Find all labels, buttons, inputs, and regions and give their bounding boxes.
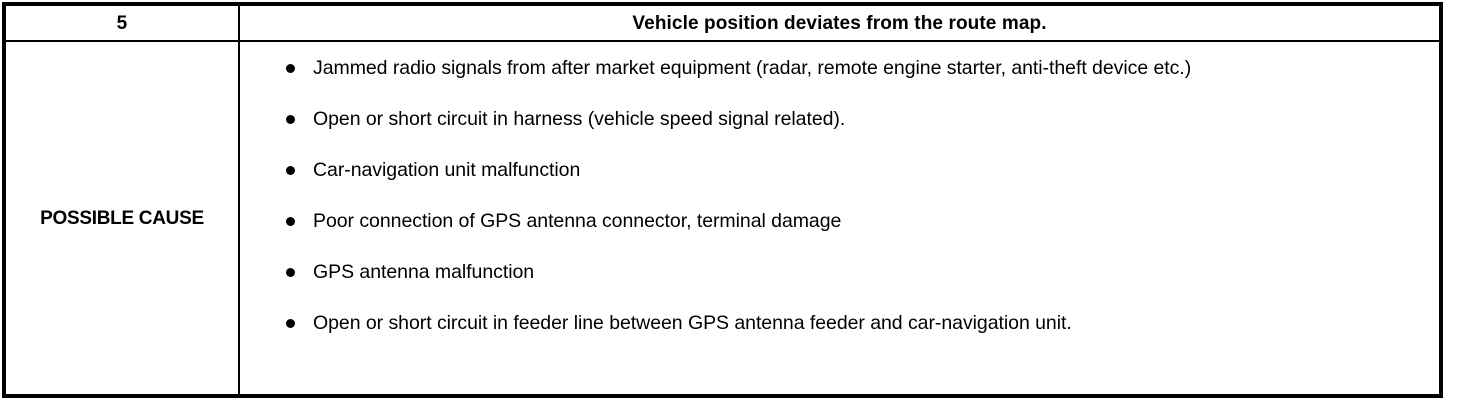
possible-cause-list: Jammed radio signals from after market e… bbox=[286, 56, 1429, 337]
bullet-dot-icon bbox=[286, 319, 295, 328]
bullet-dot-icon bbox=[286, 217, 295, 226]
list-item: Poor connection of GPS antenna connector… bbox=[286, 209, 1429, 235]
cause-text: Poor connection of GPS antenna connector… bbox=[313, 209, 1429, 235]
fault-diagnosis-table: 5 Vehicle position deviates from the rou… bbox=[2, 2, 1443, 398]
table-body-row: POSSIBLE CAUSE Jammed radio signals from… bbox=[6, 42, 1439, 394]
list-item: Car-navigation unit malfunction bbox=[286, 158, 1429, 184]
list-item: Jammed radio signals from after market e… bbox=[286, 56, 1429, 82]
bullet-dot-icon bbox=[286, 268, 295, 277]
list-item: Open or short circuit in feeder line bet… bbox=[286, 311, 1429, 337]
bullet-dot-icon bbox=[286, 166, 295, 175]
possible-cause-label: POSSIBLE CAUSE bbox=[40, 209, 204, 228]
cause-text: Car-navigation unit malfunction bbox=[313, 158, 1429, 184]
table-header-row: 5 Vehicle position deviates from the rou… bbox=[6, 6, 1439, 42]
fault-number-cell: 5 bbox=[6, 6, 240, 40]
possible-cause-label-cell: POSSIBLE CAUSE bbox=[6, 42, 240, 394]
bullet-dot-icon bbox=[286, 115, 295, 124]
fault-number-value: 5 bbox=[117, 14, 128, 33]
page-root: 5 Vehicle position deviates from the rou… bbox=[0, 0, 1472, 402]
cause-text: Jammed radio signals from after market e… bbox=[313, 56, 1429, 82]
cause-text: Open or short circuit in harness (vehicl… bbox=[313, 107, 1429, 133]
cause-text: Open or short circuit in feeder line bet… bbox=[313, 311, 1429, 337]
fault-title-cell: Vehicle position deviates from the route… bbox=[240, 6, 1439, 40]
bullet-dot-icon bbox=[286, 64, 295, 73]
possible-cause-content-cell: Jammed radio signals from after market e… bbox=[240, 42, 1439, 394]
cause-text: GPS antenna malfunction bbox=[313, 260, 1429, 286]
fault-title-value: Vehicle position deviates from the route… bbox=[632, 14, 1046, 33]
list-item: GPS antenna malfunction bbox=[286, 260, 1429, 286]
list-item: Open or short circuit in harness (vehicl… bbox=[286, 107, 1429, 133]
